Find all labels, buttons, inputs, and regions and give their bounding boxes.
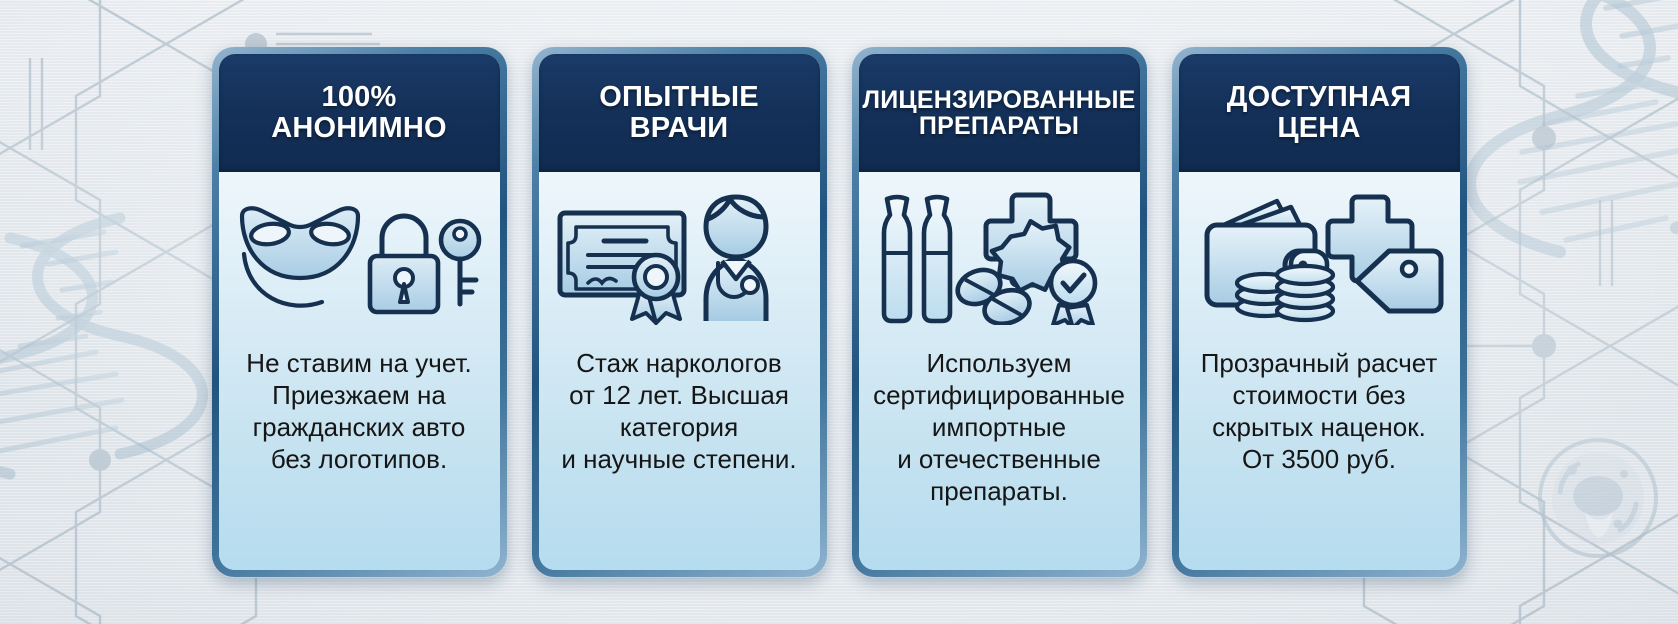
card-header-anonymity: 100% АНОНИМНО (219, 54, 500, 172)
card-title: ДОСТУПНАЯ ЦЕНА (1223, 82, 1416, 143)
feature-card-list: 100% АНОНИМНО (0, 0, 1678, 624)
ampoule-icon (924, 197, 950, 321)
feature-card-doctors[interactable]: ОПЫТНЫЕ ВРАЧИ (532, 47, 827, 577)
card-icons-doctors (549, 172, 810, 342)
feature-card-licensed-drugs[interactable]: ЛИЦЕНЗИРОВАННЫЕ ПРЕПАРАТЫ (852, 47, 1147, 577)
card-header-doctors: ОПЫТНЫЕ ВРАЧИ (539, 54, 820, 172)
doctor-stethoscope-icon (706, 197, 766, 321)
card-description-wrap: Не ставим на учет. Приезжаем на гражданс… (229, 342, 490, 570)
padlock-icon (370, 216, 438, 312)
card-header-price: ДОСТУПНАЯ ЦЕНА (1179, 54, 1460, 172)
key-icon (441, 221, 479, 304)
feature-card-anonymity[interactable]: 100% АНОНИМНО (212, 47, 507, 577)
card-description: Прозрачный расчет стоимости без скрытых … (1201, 348, 1438, 476)
coins-icon (1237, 266, 1333, 320)
card-title: 100% АНОНИМНО (267, 82, 451, 143)
ampoule-icon (884, 197, 910, 321)
card-description-wrap: Используем сертифицированные импортные и… (869, 342, 1130, 570)
masquerade-mask-icon (242, 208, 358, 278)
card-title: ЛИЦЕНЗИРОВАННЫЕ ПРЕПАРАТЫ (859, 87, 1140, 140)
promo-banner: 100% АНОНИМНО (0, 0, 1678, 624)
card-title: ОПЫТНЫЕ ВРАЧИ (595, 82, 763, 143)
card-description-wrap: Стаж наркологов от 12 лет. Высшая катего… (549, 342, 810, 570)
award-ribbon-icon (632, 255, 680, 323)
card-description-wrap: Прозрачный расчет стоимости без скрытых … (1189, 342, 1450, 570)
card-description: Стаж наркологов от 12 лет. Высшая катего… (561, 348, 796, 476)
card-icons-anonymity (229, 172, 490, 342)
card-icons-licensed-drugs (869, 172, 1130, 342)
feature-card-price[interactable]: ДОСТУПНАЯ ЦЕНА (1172, 47, 1467, 577)
card-description: Не ставим на учет. Приезжаем на гражданс… (246, 348, 471, 476)
card-header-licensed-drugs: ЛИЦЕНЗИРОВАННЫЕ ПРЕПАРАТЫ (859, 54, 1140, 172)
card-icons-price (1189, 172, 1450, 342)
card-description: Используем сертифицированные импортные и… (873, 348, 1125, 508)
